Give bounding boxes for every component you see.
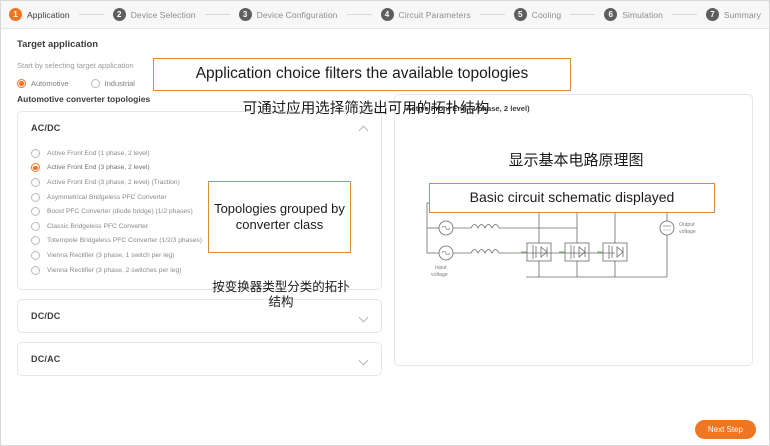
radio-dot-icon bbox=[31, 251, 40, 260]
stepper-step-simulation[interactable]: 6Simulation bbox=[604, 8, 663, 21]
topology-item-label: Vienna Rectifier (3 phase, 2 switches pe… bbox=[47, 267, 181, 274]
topology-item-label: Boost PFC Converter (diode bridge) (1/2 … bbox=[47, 208, 193, 215]
radio-dot-icon bbox=[31, 163, 40, 172]
stepper-step-summary[interactable]: 7Summary bbox=[706, 8, 761, 21]
next-step-button[interactable]: Next Step bbox=[695, 420, 756, 439]
accordion-title-acdc: AC/DC bbox=[31, 123, 61, 133]
stepper-step-circuit-parameters[interactable]: 4Circuit Parameters bbox=[381, 8, 471, 21]
stepper-step-device-selection[interactable]: 2Device Selection bbox=[113, 8, 196, 21]
stepper-step-label: Circuit Parameters bbox=[399, 10, 471, 20]
radio-dot-icon bbox=[31, 207, 40, 216]
annotation-grouped-en: Topologies grouped by converter class bbox=[208, 181, 351, 253]
stepper-step-application[interactable]: 1Application bbox=[9, 8, 70, 21]
schematic-label-input-line1: Input bbox=[435, 265, 447, 271]
footer-bar: Next Step bbox=[1, 415, 769, 445]
radio-dot-icon bbox=[91, 79, 100, 88]
topology-item-label: Classic Bridgeless PFC Converter bbox=[47, 223, 148, 230]
application-window: 1Application2Device Selection3Device Con… bbox=[0, 0, 770, 446]
schematic-label-output-line2: voltage bbox=[679, 229, 696, 235]
stepper-step-number: 6 bbox=[604, 8, 617, 21]
radio-dot-icon bbox=[31, 178, 40, 187]
schematic-card: Active Front End (3 phase, 2 level) bbox=[394, 94, 753, 366]
radio-dot-icon bbox=[17, 79, 26, 88]
stepper-step-number: 4 bbox=[381, 8, 394, 21]
topology-item[interactable]: Active Front End (3 phase, 2 level) bbox=[31, 161, 381, 176]
radio-dot-fill bbox=[33, 166, 37, 170]
radio-label-industrial: Industrial bbox=[105, 79, 135, 88]
stepper-connector bbox=[79, 14, 104, 15]
target-application-title: Target application bbox=[17, 39, 753, 50]
annotation-application-filter-en: Application choice filters the available… bbox=[153, 58, 571, 91]
topology-item-label: Active Front End (3 phase, 2 level) bbox=[47, 164, 150, 171]
stepper-step-number: 1 bbox=[9, 8, 22, 21]
accordion-header-dcac[interactable]: DC/AC bbox=[18, 343, 381, 375]
topology-item[interactable]: Active Front End (1 phase, 2 level) bbox=[31, 146, 381, 161]
stepper-connector bbox=[570, 14, 595, 15]
accordion-title-dcac: DC/AC bbox=[31, 354, 61, 364]
schematic-label-output-line1: Output bbox=[679, 222, 695, 228]
radio-option-automotive[interactable]: Automotive bbox=[17, 79, 69, 88]
stepper-step-number: 3 bbox=[239, 8, 252, 21]
schematic-panel: Active Front End (3 phase, 2 level) bbox=[394, 94, 753, 376]
annotation-schematic-en: Basic circuit schematic displayed bbox=[429, 183, 715, 213]
stepper-step-device-configuration[interactable]: 3Device Configuration bbox=[239, 8, 338, 21]
chevron-up-icon[interactable] bbox=[359, 124, 368, 133]
accordion-title-dcdc: DC/DC bbox=[31, 311, 61, 321]
annotation-grouped-cn: 按变换器类型分类的拓扑结构 bbox=[211, 279, 351, 310]
topology-item-label: Active Front End (1 phase, 2 level) bbox=[47, 150, 150, 157]
panels-container: Automotive converter topologies AC/DC Ac… bbox=[1, 94, 769, 376]
topology-item-label: Vienna Rectifier (3 phase, 1 switch per … bbox=[47, 252, 174, 259]
stepper-step-number: 5 bbox=[514, 8, 527, 21]
wizard-stepper: 1Application2Device Selection3Device Con… bbox=[1, 1, 769, 29]
stepper-step-label: Application bbox=[27, 10, 70, 20]
chevron-down-icon[interactable] bbox=[359, 312, 368, 321]
radio-dot-icon bbox=[31, 193, 40, 202]
stepper-connector bbox=[205, 14, 230, 15]
stepper-step-label: Summary bbox=[724, 10, 761, 20]
stepper-connector bbox=[672, 14, 697, 15]
annotation-application-filter-cn: 可通过应用选择筛选出可用的拓扑结构 bbox=[171, 101, 561, 119]
annotation-schematic-cn: 显示基本电路原理图 bbox=[431, 151, 721, 169]
topology-item[interactable]: Vienna Rectifier (3 phase, 2 switches pe… bbox=[31, 263, 381, 278]
accordion-dcac: DC/AC bbox=[17, 342, 382, 376]
stepper-step-label: Device Selection bbox=[131, 10, 196, 20]
stepper-step-label: Simulation bbox=[622, 10, 663, 20]
radio-dot-icon bbox=[31, 266, 40, 275]
radio-label-automotive: Automotive bbox=[31, 79, 69, 88]
radio-dot-icon bbox=[31, 222, 40, 231]
topology-item-label: Totempole Bridgeless PFC Converter (1/2/… bbox=[47, 237, 202, 244]
stepper-connector bbox=[347, 14, 372, 15]
topology-item-label: Asymmetrical Bridgeless PFC Converter bbox=[47, 194, 167, 201]
radio-dot-icon bbox=[31, 236, 40, 245]
radio-dot-icon bbox=[31, 149, 40, 158]
chevron-down-icon[interactable] bbox=[359, 355, 368, 364]
schematic-label-input-line2: voltage bbox=[431, 272, 448, 278]
stepper-step-number: 2 bbox=[113, 8, 126, 21]
stepper-step-number: 7 bbox=[706, 8, 719, 21]
stepper-step-label: Cooling bbox=[532, 10, 562, 20]
radio-option-industrial[interactable]: Industrial bbox=[91, 79, 135, 88]
stepper-connector bbox=[480, 14, 505, 15]
topology-item-label: Active Front End (3 phase, 2 level) (Tra… bbox=[47, 179, 180, 186]
stepper-step-cooling[interactable]: 5Cooling bbox=[514, 8, 562, 21]
stepper-step-label: Device Configuration bbox=[257, 10, 338, 20]
